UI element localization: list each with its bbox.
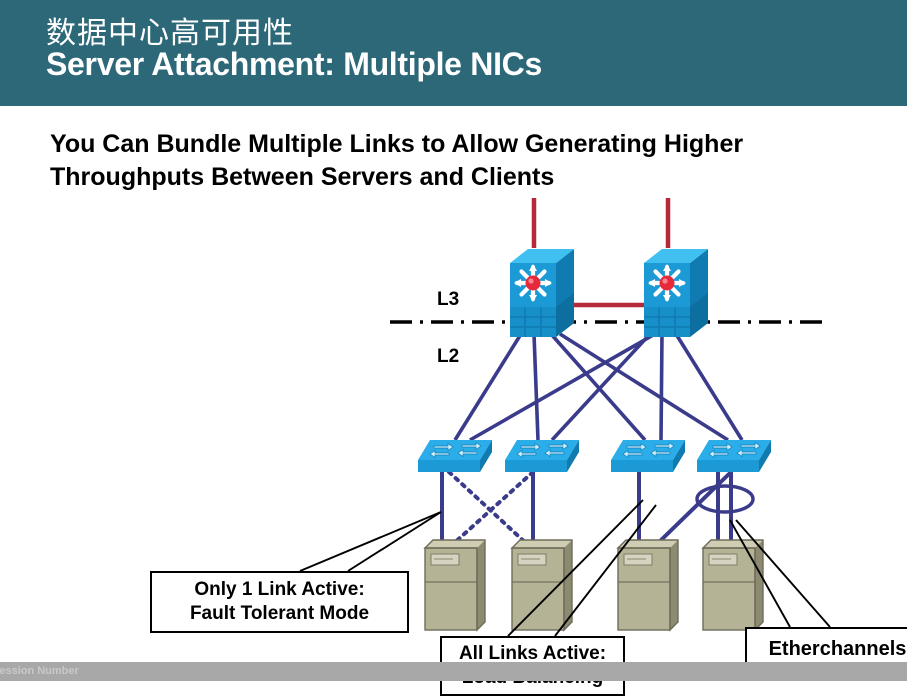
core-switch-left[interactable] [510, 249, 574, 337]
server-3[interactable] [618, 540, 678, 630]
footer-bar [0, 662, 907, 681]
core-to-access-links [455, 334, 742, 440]
footer-session-number: Session Number [0, 665, 79, 677]
callout-fault-line-2: Fault Tolerant Mode [190, 602, 369, 626]
network-diagram [0, 0, 907, 681]
server-4[interactable] [703, 540, 763, 630]
server-1[interactable] [425, 540, 485, 630]
access-switch-1[interactable] [418, 440, 492, 472]
access-switch-3[interactable] [611, 440, 685, 472]
callout-ether-line-1: Etherchannels [769, 637, 907, 662]
core-switch-right[interactable] [644, 249, 708, 337]
callout-fault-line-1: Only 1 Link Active: [194, 578, 364, 602]
server-2[interactable] [512, 540, 572, 630]
server4-etherchannel-links [697, 472, 753, 548]
tier-label-l3: L3 [437, 289, 459, 311]
callout-fault-tolerant: Only 1 Link Active: Fault Tolerant Mode [150, 571, 409, 633]
access-switch-2[interactable] [505, 440, 579, 472]
access-switch-4[interactable] [697, 440, 771, 472]
tier-label-l2: L2 [437, 346, 459, 368]
